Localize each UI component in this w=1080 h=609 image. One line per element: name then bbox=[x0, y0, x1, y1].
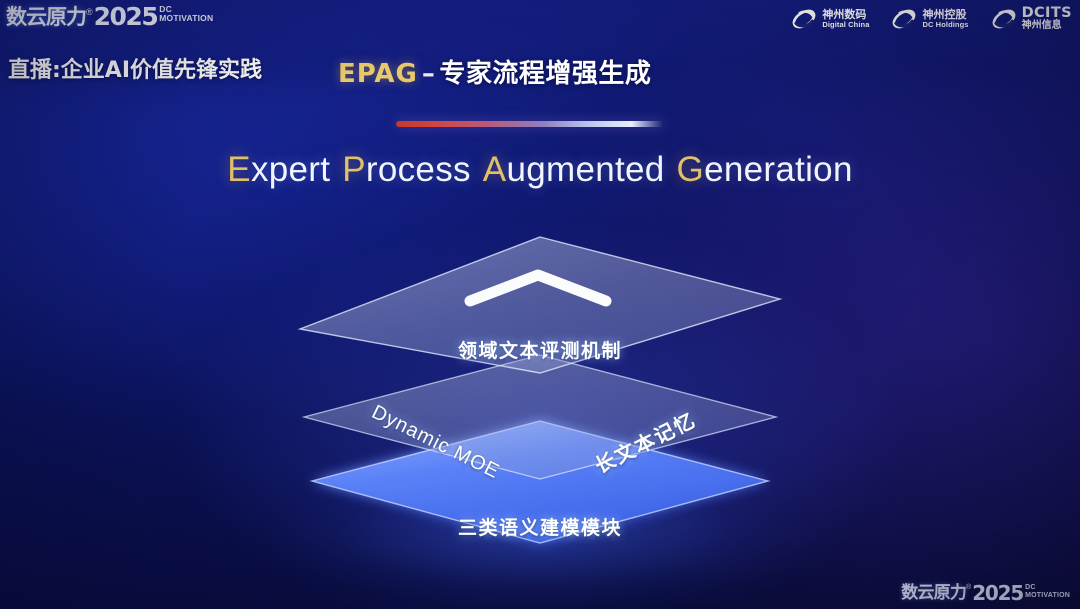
layered-architecture-diagram: 三类语义建模模块 Dynamic MOE 长文本记忆 bbox=[290, 225, 790, 565]
slide-title-acronym: EPAG bbox=[338, 59, 418, 89]
logo-label-cn: 神州信息 bbox=[1022, 21, 1072, 32]
swirl-icon bbox=[791, 6, 817, 32]
watermark-dc-line1: DC bbox=[1025, 584, 1070, 592]
diagram-layer-top: 领域文本评测机制 bbox=[290, 225, 790, 565]
watermark-logo: 数云原力 ® 2025 DC MOTIVATION bbox=[901, 583, 1070, 603]
subtitle-cap-g: G bbox=[677, 150, 705, 189]
brand-dc-motivation: DC MOTIVATION bbox=[159, 5, 213, 23]
brand-name-cn: 数云原力 bbox=[6, 4, 86, 30]
logo-dc-holdings: 神州控股 DC Holdings bbox=[891, 6, 968, 32]
subtitle-cap-e: E bbox=[227, 150, 251, 189]
watermark-registered-mark: ® bbox=[966, 583, 971, 593]
watermark-dc-motivation: DC MOTIVATION bbox=[1025, 584, 1070, 599]
accent-rule bbox=[396, 121, 664, 127]
subtitle-cap-p: P bbox=[342, 150, 366, 189]
logo-text-block: 神州控股 DC Holdings bbox=[922, 9, 968, 28]
subtitle-rest-expert: xpert bbox=[251, 150, 330, 189]
logo-label-en: DC Holdings bbox=[922, 21, 968, 29]
subtitle-rest-augmented: ugmented bbox=[506, 150, 664, 189]
partner-logo-row: 神州数码 Digital China 神州控股 DC Holdings bbox=[791, 6, 1072, 32]
slide-title: EPAG–专家流程增强生成 bbox=[338, 53, 651, 90]
live-stream-title: 直播:企业AI价值先锋实践 bbox=[8, 52, 262, 84]
subtitle-cap-a: A bbox=[483, 150, 507, 189]
slide-canvas: 数云原力 ® 2025 DC MOTIVATION 直播:企业AI价值先锋实践 … bbox=[0, 0, 1080, 609]
logo-digital-china: 神州数码 Digital China bbox=[791, 6, 869, 32]
brand-year: 2025 bbox=[94, 4, 158, 30]
logo-dcits: DCITS 神州信息 bbox=[991, 6, 1072, 32]
diagram-label-top: 领域文本评测机制 bbox=[458, 336, 622, 363]
brand-logo: 数云原力 ® 2025 DC MOTIVATION bbox=[6, 4, 213, 30]
subtitle-rest-process: rocess bbox=[366, 150, 471, 189]
swirl-icon bbox=[891, 6, 917, 32]
watermark-year: 2025 bbox=[972, 583, 1023, 603]
swirl-icon bbox=[991, 6, 1017, 32]
brand-dc-line2: MOTIVATION bbox=[159, 14, 213, 23]
slide-title-dash: – bbox=[422, 59, 436, 89]
logo-label-en: Digital China bbox=[822, 21, 869, 29]
chevron-up-icon bbox=[462, 267, 614, 307]
brand-registered-mark: ® bbox=[86, 6, 93, 18]
subtitle-expert-process-augmented-generation: ExpertProcessAugmentedGeneration bbox=[0, 150, 1080, 190]
slide-title-chinese: 专家流程增强生成 bbox=[439, 59, 651, 89]
logo-text-block: 神州数码 Digital China bbox=[822, 9, 869, 28]
logo-text-block: DCITS 神州信息 bbox=[1022, 6, 1072, 32]
subtitle-rest-generation: eneration bbox=[704, 150, 853, 189]
watermark-name-cn: 数云原力 bbox=[901, 583, 966, 603]
watermark-dc-line2: MOTIVATION bbox=[1025, 592, 1070, 600]
